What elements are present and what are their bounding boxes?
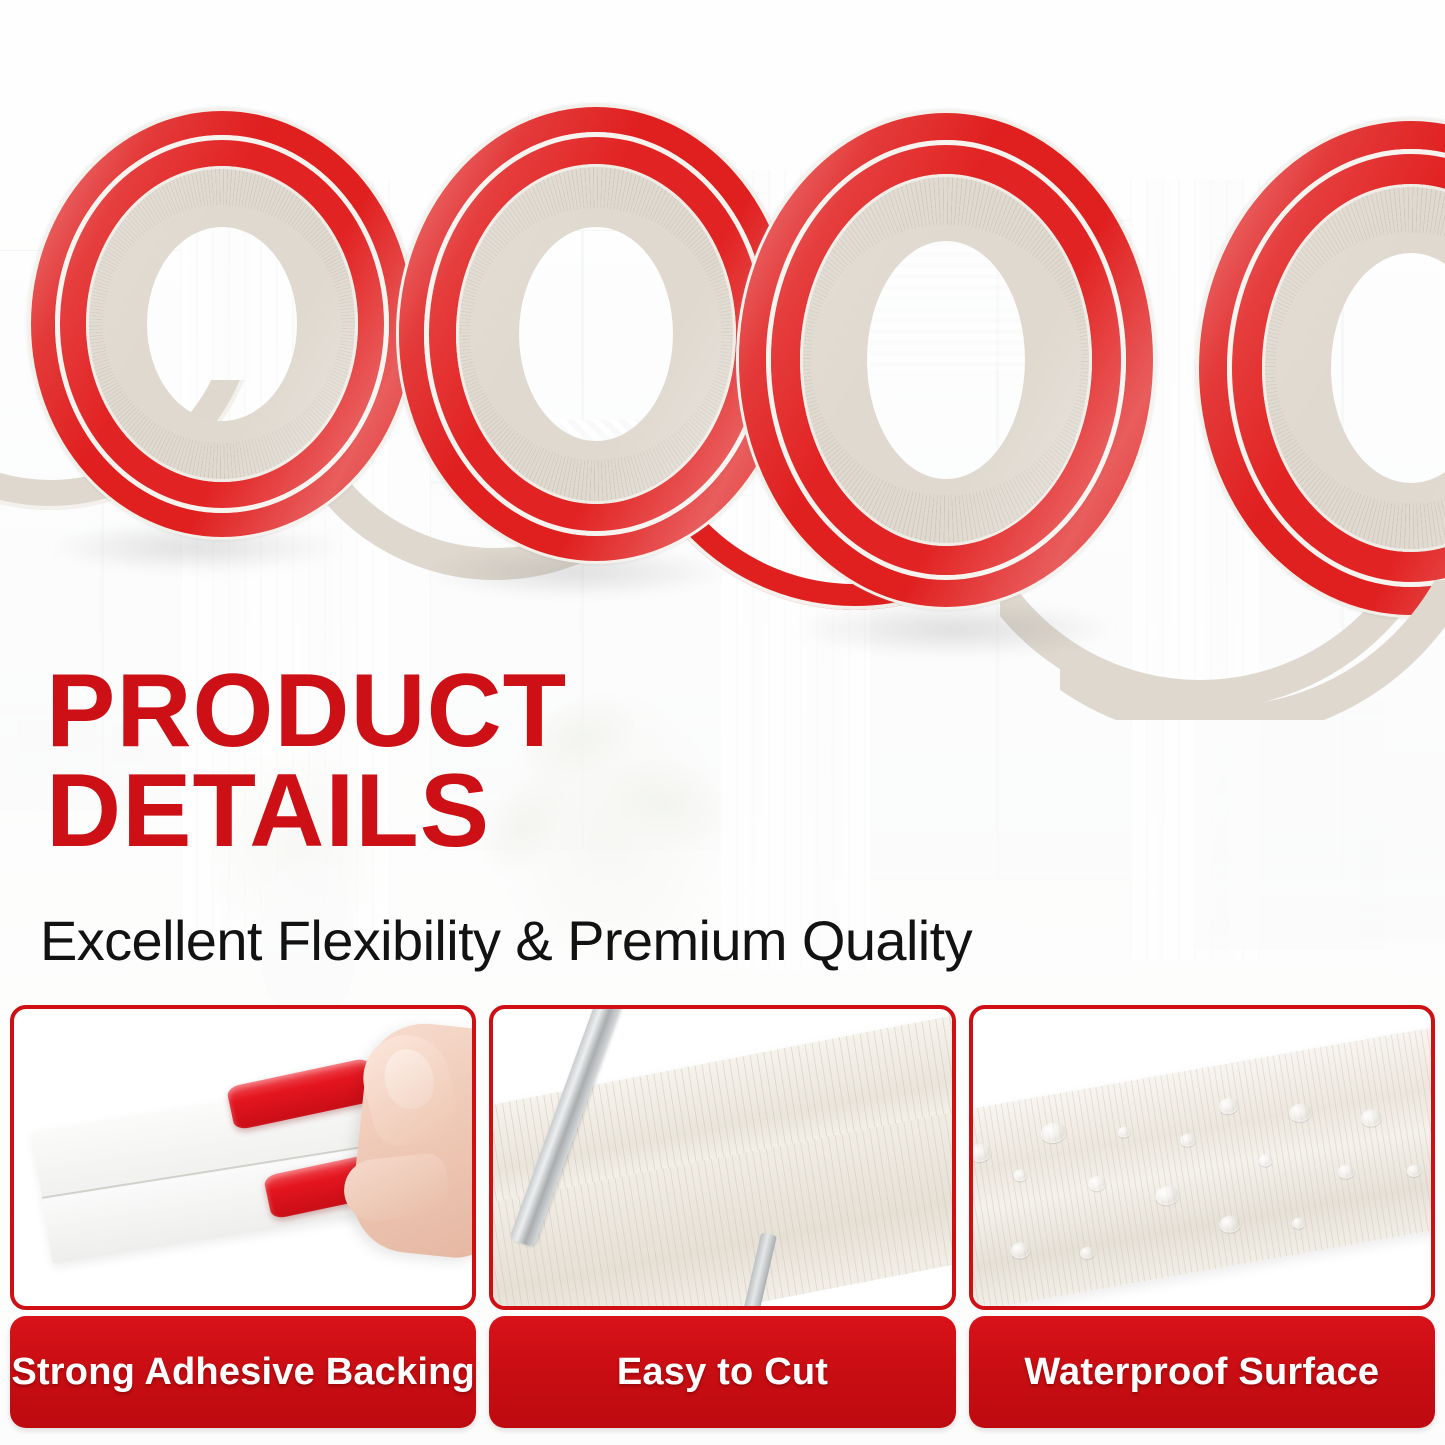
water-droplet — [1012, 1168, 1028, 1182]
water-droplet — [1039, 1121, 1068, 1145]
coil-woodgrain-texture — [89, 169, 355, 479]
feature-photo-easy-cut — [489, 1005, 955, 1310]
page-title: PRODUCT DETAILS — [46, 662, 766, 862]
water-droplet — [1116, 1126, 1131, 1139]
product-detail-banner: PRODUCT DETAILS Excellent Flexibility & … — [0, 0, 1445, 1445]
headline-line-1: PRODUCT — [46, 662, 766, 762]
water-droplet — [1217, 1214, 1242, 1235]
water-droplet — [1153, 1184, 1180, 1207]
ribbon-tail-foreground — [1060, 580, 1445, 720]
water-droplet — [969, 1142, 992, 1164]
coil-woodgrain-texture — [459, 167, 733, 501]
water-droplet — [1429, 1112, 1435, 1130]
water-droplet — [1087, 1175, 1107, 1193]
feature-card-easy-cut: Easy to Cut — [489, 1005, 955, 1435]
feature-photo-adhesive — [10, 1005, 476, 1310]
feature-card-waterproof: Waterproof Surface — [969, 1005, 1435, 1435]
water-droplet — [1287, 1102, 1313, 1124]
coil-loop-3 — [736, 110, 1156, 610]
feature-panel-row: Strong Adhesive Backing Easy to Cut — [10, 1005, 1435, 1435]
water-droplet — [1359, 1108, 1383, 1128]
water-droplet — [1257, 1153, 1273, 1167]
water-droplet — [1217, 1096, 1239, 1115]
water-droplet — [1009, 1241, 1031, 1260]
hero-coil-illustration — [0, 0, 1445, 720]
water-droplet — [1291, 1217, 1306, 1230]
water-droplet — [1179, 1132, 1197, 1148]
feature-card-adhesive: Strong Adhesive Backing — [10, 1005, 476, 1435]
water-droplet — [1079, 1246, 1096, 1260]
coil-woodgrain-texture — [803, 177, 1089, 543]
water-droplet — [1336, 1163, 1355, 1180]
feature-photo-waterproof — [969, 1005, 1435, 1310]
trim-strip-wet — [969, 1020, 1435, 1310]
headline-line-2: DETAILS — [46, 762, 766, 862]
page-subtitle: Excellent Flexibility & Premium Quality — [40, 908, 972, 973]
water-droplet — [1405, 1164, 1422, 1178]
feature-caption-easy-cut: Easy to Cut — [489, 1316, 955, 1428]
coil-loop-1 — [28, 108, 416, 540]
feature-caption-waterproof: Waterproof Surface — [969, 1316, 1435, 1428]
coil-loop-2 — [396, 104, 796, 564]
feature-caption-adhesive: Strong Adhesive Backing — [10, 1316, 476, 1428]
